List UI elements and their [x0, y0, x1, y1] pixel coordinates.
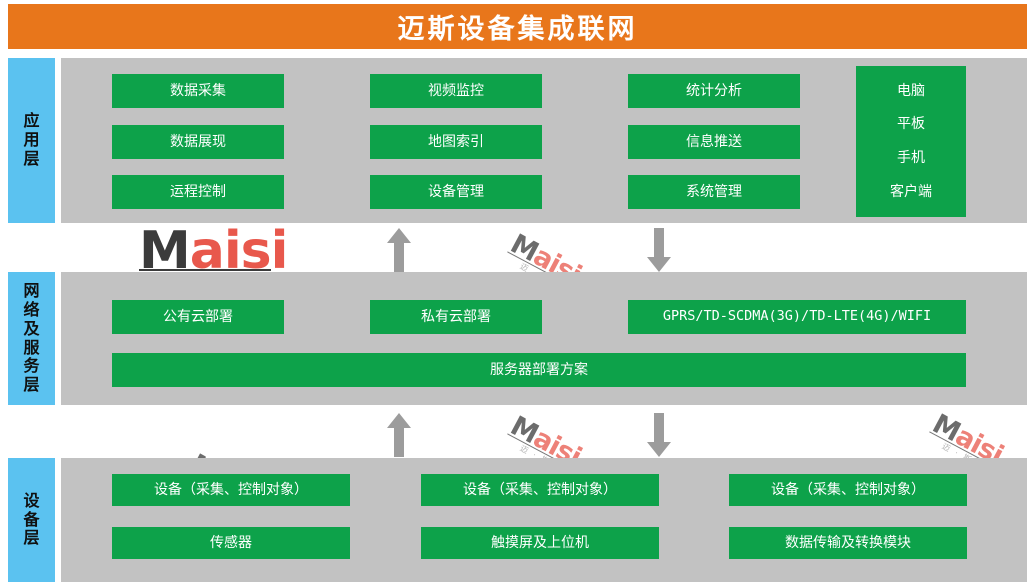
net-box-server-deployment[interactable]: 服务器部署方案 [112, 353, 966, 387]
device-box-sensor[interactable]: 传感器 [112, 527, 350, 559]
network-layer-row: 网络及服务层 公有云部署 私有云部署 GPRS/TD-SCDMA(3G)/TD-… [8, 272, 1027, 405]
app-box-info-push[interactable]: 信息推送 [628, 125, 800, 159]
client-app: 客户端 [890, 182, 932, 202]
device-box-object-3[interactable]: 设备（采集、控制对象） [729, 474, 967, 506]
watermark-letter-m-gap2c: M [505, 410, 542, 450]
device-box-touchscreen-host[interactable]: 触摸屏及上位机 [421, 527, 659, 559]
layer-label-network: 网络及服务层 [8, 272, 55, 405]
up-arrow-icon-gap2 [386, 413, 412, 457]
layer-label-device-text: 设备层 [23, 492, 40, 549]
net-box-wireless-networks[interactable]: GPRS/TD-SCDMA(3G)/TD-LTE(4G)/WIFI [628, 300, 966, 334]
up-arrow-icon-gap1 [386, 228, 412, 272]
app-box-remote-control[interactable]: 运程控制 [112, 175, 284, 209]
device-layer-row: 设备层 设备（采集、控制对象） 设备（采集、控制对象） 设备（采集、控制对象） … [8, 458, 1027, 582]
net-box-public-cloud[interactable]: 公有云部署 [112, 300, 284, 334]
device-box-object-1[interactable]: 设备（采集、控制对象） [112, 474, 350, 506]
diagram-canvas: 迈斯设备集成联网 应用层 数据采集 数据展现 运程控制 视频监控 地图索引 设备… [0, 0, 1035, 588]
layer-label-device: 设备层 [8, 458, 55, 582]
down-arrow-icon-gap2 [646, 413, 672, 457]
layer-label-application: 应用层 [8, 58, 55, 223]
down-arrow-icon-gap1 [646, 228, 672, 272]
net-box-private-cloud[interactable]: 私有云部署 [370, 300, 542, 334]
app-box-data-display[interactable]: 数据展现 [112, 125, 284, 159]
application-layer-row: 应用层 数据采集 数据展现 运程控制 视频监控 地图索引 设备管理 统计分析 信… [8, 58, 1027, 223]
application-layer-panel: 数据采集 数据展现 运程控制 视频监控 地图索引 设备管理 统计分析 信息推送 … [61, 58, 1027, 223]
client-tablet: 平板 [897, 114, 925, 134]
layer-label-network-text: 网络及服务层 [23, 282, 40, 395]
app-box-device-manage[interactable]: 设备管理 [370, 175, 542, 209]
app-box-map-index[interactable]: 地图索引 [370, 125, 542, 159]
app-box-video-monitor[interactable]: 视频监控 [370, 74, 542, 108]
network-layer-panel: 公有云部署 私有云部署 GPRS/TD-SCDMA(3G)/TD-LTE(4G)… [61, 272, 1027, 405]
device-box-object-2[interactable]: 设备（采集、控制对象） [421, 474, 659, 506]
watermark-letter-m-gap2r: M [927, 408, 964, 448]
device-box-data-transfer[interactable]: 数据传输及转换模块 [729, 527, 967, 559]
app-box-client-terminals[interactable]: 电脑 平板 手机 客户端 [856, 66, 966, 217]
page-title-bar: 迈斯设备集成联网 [8, 4, 1027, 49]
client-pc: 电脑 [897, 81, 925, 101]
client-phone: 手机 [897, 148, 925, 168]
app-box-data-collection[interactable]: 数据采集 [112, 74, 284, 108]
page-title: 迈斯设备集成联网 [398, 7, 638, 46]
layer-label-application-text: 应用层 [23, 112, 40, 169]
app-box-statistics[interactable]: 统计分析 [628, 74, 800, 108]
app-box-system-manage[interactable]: 系统管理 [628, 175, 800, 209]
watermark-letter-m-gap1: M [505, 228, 542, 268]
device-layer-panel: 设备（采集、控制对象） 设备（采集、控制对象） 设备（采集、控制对象） 传感器 … [61, 458, 1027, 582]
